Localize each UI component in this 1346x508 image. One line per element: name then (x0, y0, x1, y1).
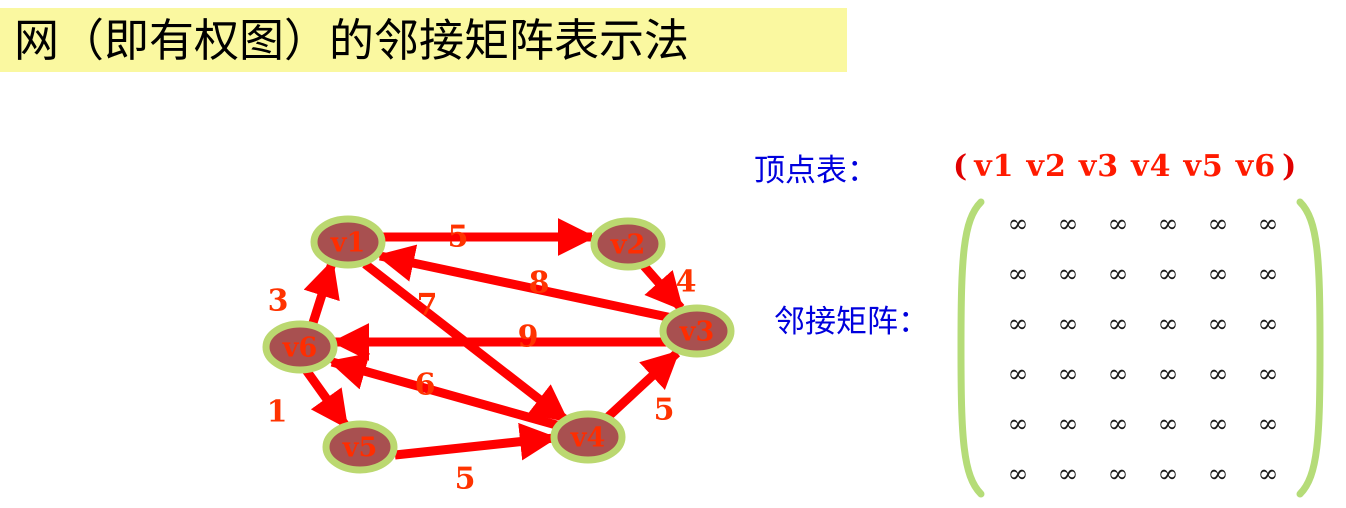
graph-node-label-v5: v5 (342, 433, 377, 464)
graph-node-v1[interactable]: v1 (314, 219, 382, 265)
matrix-cell-r1c4: ∞ (1158, 211, 1179, 236)
edge-weight-v3-v6: 9 (518, 320, 539, 355)
matrix-cell-r2c5: ∞ (1208, 261, 1229, 286)
graph-node-v6[interactable]: v6 (266, 324, 334, 370)
matrix-cell-r1c3: ∞ (1108, 211, 1129, 236)
edge-v5-v4 (395, 438, 554, 455)
vertex-list-item-v1: v1 (968, 149, 1020, 184)
matrix-left-bracket (953, 198, 987, 498)
matrix-cell-r4c1: ∞ (1008, 361, 1029, 386)
matrix-cell-r3c6: ∞ (1258, 311, 1279, 336)
edge-weight-v4-v3: 5 (654, 393, 675, 428)
edge-weight-v1-v4: 7 (417, 288, 438, 323)
edge-weight-v2-v3: 4 (676, 265, 697, 300)
vertex-list-item-v4: v4 (1125, 149, 1177, 184)
matrix-cell-r2c3: ∞ (1108, 261, 1129, 286)
graph-node-label-v2: v2 (610, 230, 645, 261)
matrix-cell-r4c2: ∞ (1058, 361, 1079, 386)
matrix-cell-r2c4: ∞ (1158, 261, 1179, 286)
matrix-cell-r4c6: ∞ (1258, 361, 1279, 386)
matrix-cell-r5c2: ∞ (1058, 411, 1079, 436)
matrix-cell-r2c1: ∞ (1008, 261, 1029, 286)
matrix-cell-r5c1: ∞ (1008, 411, 1029, 436)
page-title-banner: 网（即有权图）的邻接矩阵表示法 (0, 8, 847, 72)
matrix-cell-r1c2: ∞ (1058, 211, 1079, 236)
matrix-cell-r6c5: ∞ (1208, 461, 1229, 486)
graph-canvas: v1 v2 v3 v4 v5 v6 5 (240, 190, 740, 508)
graph-node-v2[interactable]: v2 (594, 221, 662, 267)
graph-node-v3[interactable]: v3 (663, 308, 731, 354)
matrix-right-bracket (1294, 198, 1328, 498)
matrix-cell-r3c4: ∞ (1158, 311, 1179, 336)
matrix-cell-r5c3: ∞ (1108, 411, 1129, 436)
matrix-cell-r1c6: ∞ (1258, 211, 1279, 236)
matrix-cell-r6c2: ∞ (1058, 461, 1079, 486)
vertex-list-item-v6: v6 (1230, 149, 1282, 184)
adjacency-matrix-panel: 顶点表： 邻接矩阵： (v1v2v3v4v5v6) ∞ ∞ ∞ ∞ ∞ ∞ ∞ … (748, 140, 1346, 508)
matrix-cell-r5c5: ∞ (1208, 411, 1229, 436)
graph-node-label-v3: v3 (679, 317, 714, 348)
vertex-list-item-v5: v5 (1177, 149, 1229, 184)
graph-node-label-v6: v6 (282, 333, 317, 364)
matrix-cell-r5c6: ∞ (1258, 411, 1279, 436)
matrix-cell-r3c2: ∞ (1058, 311, 1079, 336)
matrix-cell-r3c5: ∞ (1208, 311, 1229, 336)
matrix-cell-r5c4: ∞ (1158, 411, 1179, 436)
matrix-cell-r1c1: ∞ (1008, 211, 1029, 236)
adjacency-matrix-label: 邻接矩阵： (774, 307, 929, 338)
matrix-grid: ∞ ∞ ∞ ∞ ∞ ∞ ∞ ∞ ∞ ∞ ∞ ∞ ∞ ∞ ∞ ∞ ∞ ∞ ∞ ∞ … (993, 198, 1293, 498)
vertex-list-item-v2: v2 (1021, 149, 1073, 184)
matrix-cell-r3c3: ∞ (1108, 311, 1129, 336)
page-title: 网（即有权图）的邻接矩阵表示法 (0, 18, 689, 63)
edge-weight-v4-v6: 6 (415, 368, 436, 403)
edge-weight-v6-v1: 3 (268, 284, 289, 319)
matrix-cell-r4c4: ∞ (1158, 361, 1179, 386)
matrix-cell-r4c5: ∞ (1208, 361, 1229, 386)
matrix-cell-r4c3: ∞ (1108, 361, 1129, 386)
vertex-list: (v1v2v3v4v5v6) (953, 152, 1297, 182)
matrix-cell-r6c6: ∞ (1258, 461, 1279, 486)
vertex-list-item-v3: v3 (1073, 149, 1125, 184)
vertex-list-label: 顶点表： (754, 156, 878, 187)
matrix-cell-r3c1: ∞ (1008, 311, 1029, 336)
graph-node-label-v1: v1 (330, 228, 365, 259)
graph-node-v5[interactable]: v5 (326, 424, 394, 470)
graph-node-v4[interactable]: v4 (554, 414, 622, 460)
matrix-cell-r6c4: ∞ (1158, 461, 1179, 486)
matrix-cell-r2c6: ∞ (1258, 261, 1279, 286)
weighted-digraph-figure: v1 v2 v3 v4 v5 v6 5 (240, 190, 740, 508)
matrix-cell-r6c1: ∞ (1008, 461, 1029, 486)
edge-v6-v1 (312, 263, 332, 326)
matrix-cell-r6c3: ∞ (1108, 461, 1129, 486)
vertex-list-open-paren: ( (953, 149, 968, 184)
edge-weight-v6-v5: 1 (267, 395, 288, 430)
matrix-cell-r1c5: ∞ (1208, 211, 1229, 236)
edge-v6-v5 (306, 370, 346, 426)
graph-node-label-v4: v4 (570, 423, 605, 454)
edge-weight-v5-v4: 5 (455, 462, 476, 497)
vertex-list-close-paren: ) (1282, 149, 1297, 184)
matrix-container: ∞ ∞ ∞ ∞ ∞ ∞ ∞ ∞ ∞ ∞ ∞ ∞ ∞ ∞ ∞ ∞ ∞ ∞ ∞ ∞ … (953, 198, 1328, 498)
edge-weight-v1-v2: 5 (448, 220, 469, 255)
edge-weight-v3-v1: 8 (529, 266, 550, 301)
matrix-cell-r2c2: ∞ (1058, 261, 1079, 286)
